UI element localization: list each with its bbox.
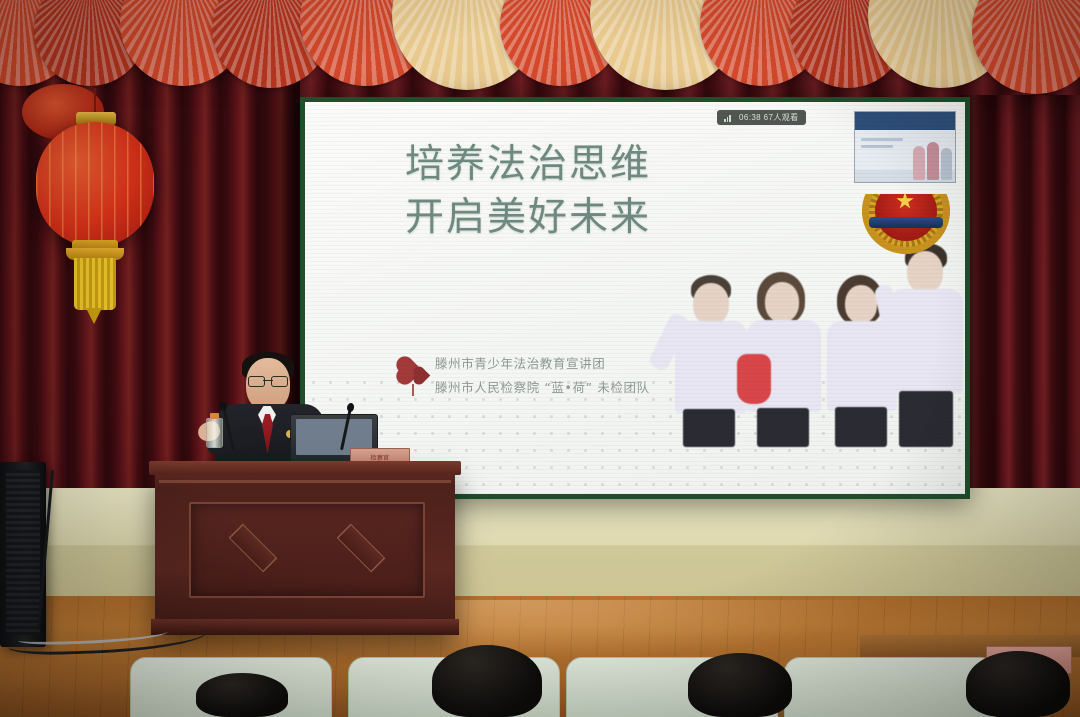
picture-in-picture-preview xyxy=(854,111,956,183)
slide-subtitle-line-1: 滕州市青少年法治教育宣讲团 xyxy=(435,352,735,376)
diamond-carving-icon xyxy=(337,524,386,573)
heart-icon xyxy=(402,358,436,388)
signal-bars-icon xyxy=(724,114,733,122)
audience-front-row xyxy=(0,639,1080,717)
slide-title-line-2: 开启美好未来 xyxy=(405,191,735,244)
water-bottle xyxy=(206,418,223,448)
pip-text-line xyxy=(861,145,893,148)
lantern-tassel xyxy=(74,258,116,310)
glasses-icon xyxy=(248,376,288,385)
fan-decor-icon xyxy=(972,0,1080,94)
diamond-carving-icon xyxy=(229,524,278,573)
pip-ground xyxy=(855,170,955,182)
lectern-top-edge xyxy=(149,461,461,475)
student-figure xyxy=(883,255,965,447)
red-lantern xyxy=(30,88,160,298)
procuratorate-emblem-icon xyxy=(862,194,950,254)
pip-text-line xyxy=(861,138,903,141)
lectern-panel xyxy=(189,502,425,598)
lantern-body xyxy=(36,122,154,247)
wooden-lectern xyxy=(155,470,455,635)
pip-header-band xyxy=(855,112,955,130)
projection-screen: 培养法治思维 开启美好未来 滕州市青少年法治教育宣讲团 滕州市人民检察院 “蓝•… xyxy=(300,97,970,499)
slide-student-photo xyxy=(657,232,957,447)
pip-figure xyxy=(913,146,925,180)
audience-head xyxy=(966,651,1070,717)
slide-title-line-1: 培养法治思维 xyxy=(405,138,735,191)
audience-head xyxy=(196,673,288,717)
auditorium-scene: 培养法治思维 开启美好未来 滕州市青少年法治教育宣讲团 滕州市人民检察院 “蓝•… xyxy=(0,0,1080,717)
audience-chair xyxy=(784,657,996,717)
audience-head xyxy=(688,653,792,717)
slide-title: 培养法治思维 开启美好未来 xyxy=(405,138,735,244)
pip-figure xyxy=(927,142,939,180)
speaker-grille xyxy=(6,470,40,635)
live-status-text: 06:38 67人观看 xyxy=(739,114,799,122)
live-status-bar: 06:38 67人观看 xyxy=(717,110,806,125)
lectern-trim xyxy=(159,480,451,483)
pip-figure xyxy=(941,148,952,180)
slide-subtitle: 滕州市青少年法治教育宣讲团 滕州市人民检察院 “蓝•荷” 未检团队 xyxy=(435,352,735,401)
slide-subtitle-line-2: 滕州市人民检察院 “蓝•荷” 未检团队 xyxy=(435,376,735,400)
slide-surface: 培养法治思维 开启美好未来 滕州市青少年法治教育宣讲团 滕州市人民检察院 “蓝•… xyxy=(305,102,965,494)
audience-head xyxy=(432,645,542,717)
